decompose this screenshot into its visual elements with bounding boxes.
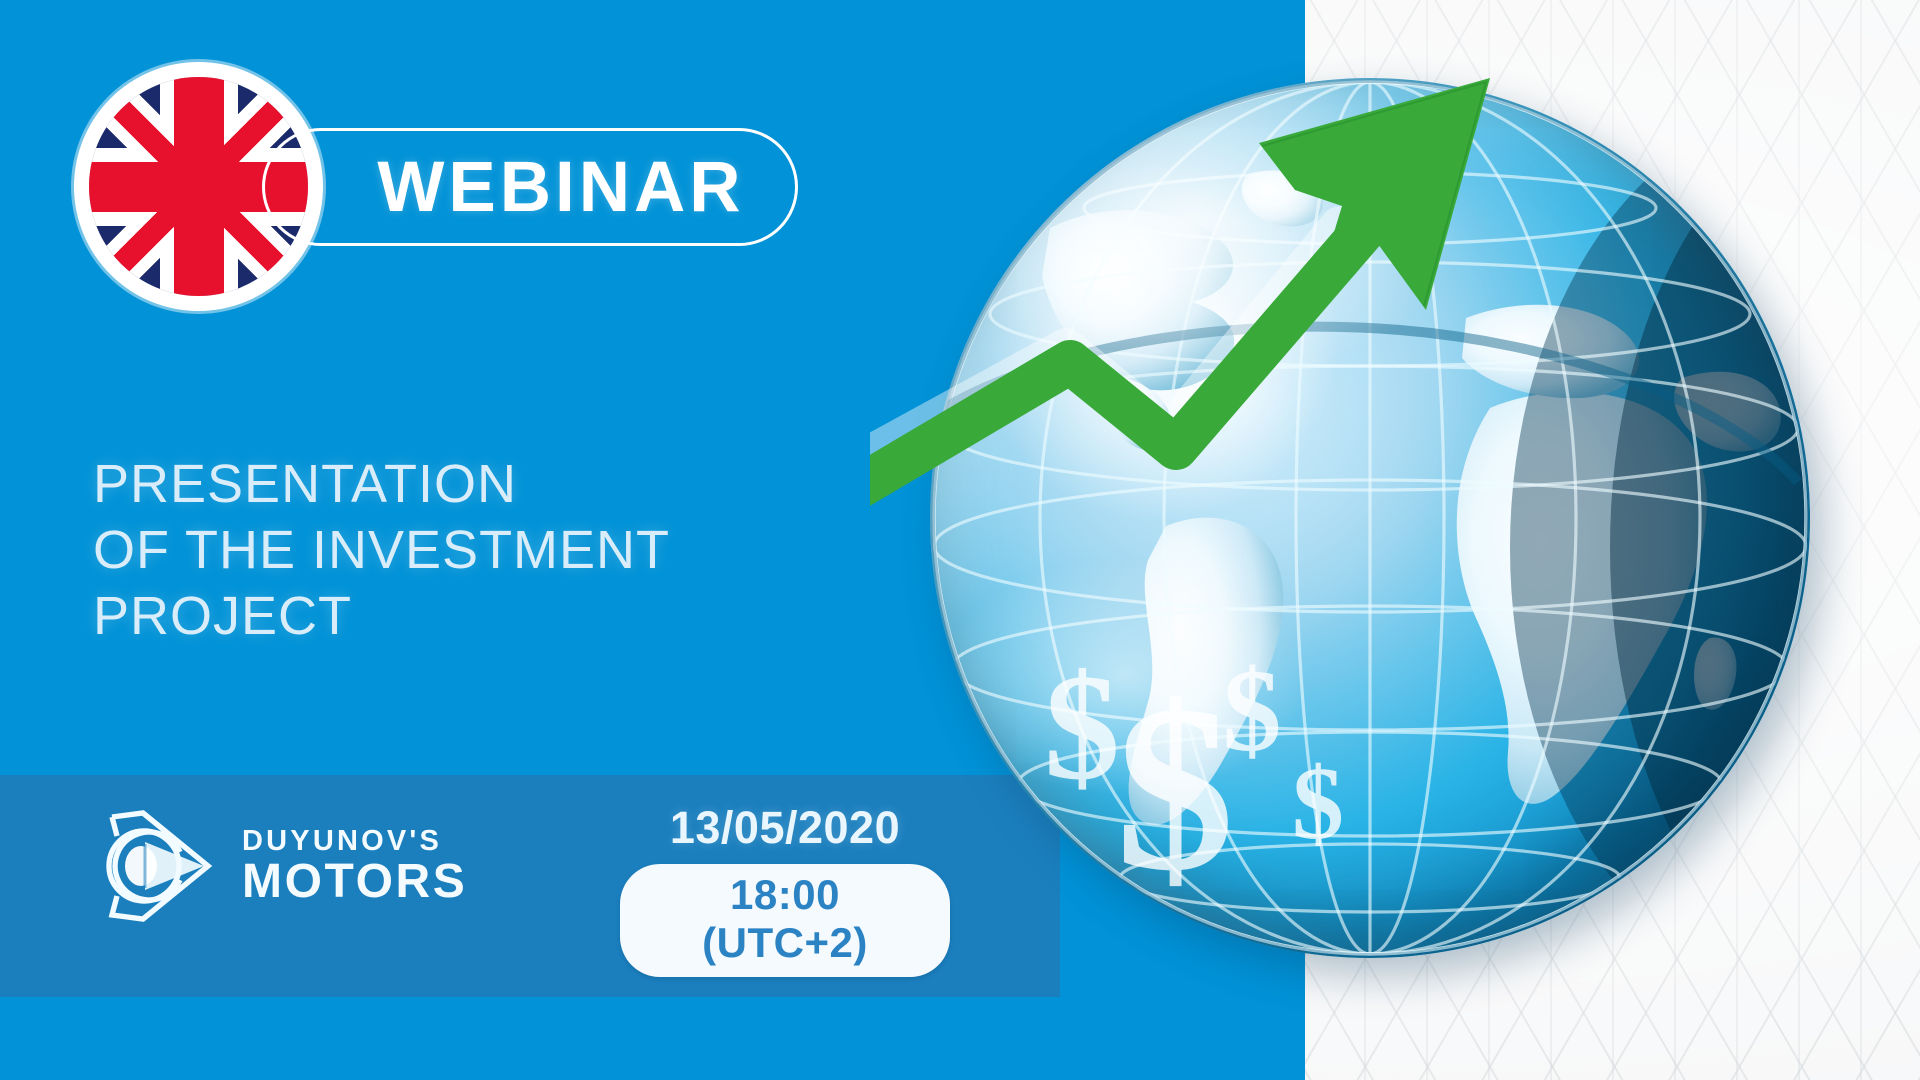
webinar-tag: WEBINAR bbox=[262, 128, 798, 246]
brand-name-top: DUYUNOV'S bbox=[242, 827, 467, 856]
headline-line-3: PROJECT bbox=[93, 584, 853, 650]
growth-arrow-icon bbox=[870, 18, 1890, 1038]
page-title: PRESENTATION OF THE INVESTMENT PROJECT bbox=[93, 452, 853, 650]
brand-logo: DUYUNOV'S MOTORS bbox=[96, 800, 467, 932]
webinar-tag-label: WEBINAR bbox=[315, 152, 744, 223]
event-datetime: 13/05/2020 18:00 (UTC+2) bbox=[620, 802, 950, 977]
duyunov-motors-logo-icon bbox=[96, 800, 220, 932]
brand-wordmark: DUYUNOV'S MOTORS bbox=[242, 827, 467, 906]
headline-line-2: OF THE INVESTMENT bbox=[93, 518, 853, 584]
webinar-banner: $ $ $ $ bbox=[0, 0, 1920, 1080]
brand-name-bottom: MOTORS bbox=[242, 858, 467, 906]
event-time-badge: 18:00 (UTC+2) bbox=[620, 864, 950, 977]
headline-line-1: PRESENTATION bbox=[93, 452, 853, 518]
event-date: 13/05/2020 bbox=[620, 802, 950, 854]
globe-artwork: $ $ $ $ bbox=[930, 78, 1830, 978]
